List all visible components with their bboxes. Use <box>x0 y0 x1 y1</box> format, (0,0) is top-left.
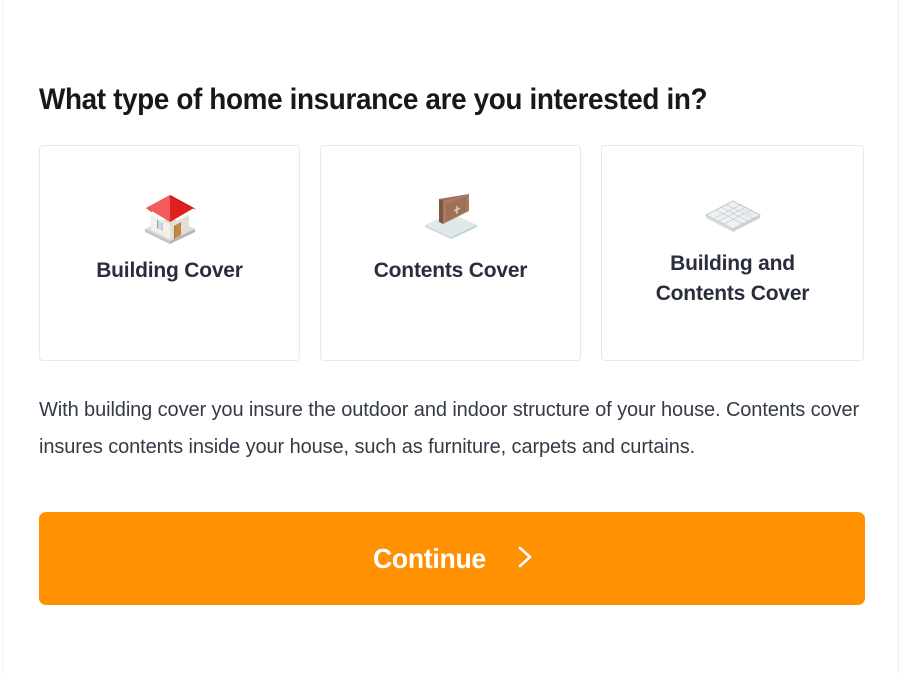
chevron-right-icon <box>516 543 534 574</box>
cover-options-group: Building Cover <box>39 145 869 361</box>
option-card-building-and-contents-cover[interactable]: Building and Contents Cover <box>601 145 864 361</box>
content-container: What type of home insurance are you inte… <box>39 0 869 605</box>
continue-button-label: Continue <box>373 543 486 575</box>
cover-description-text: With building cover you insure the outdo… <box>39 392 867 466</box>
continue-button[interactable]: Continue <box>39 512 865 605</box>
option-card-contents-cover[interactable]: Contents Cover <box>320 145 581 361</box>
option-card-label-line-1: Building and <box>656 249 810 279</box>
option-card-label: Contents Cover <box>374 256 528 286</box>
insurance-question-page: What type of home insurance are you inte… <box>0 0 904 674</box>
option-card-label-line-2: Contents Cover <box>656 279 810 309</box>
page-right-edge <box>898 0 899 674</box>
option-card-label: Building Cover <box>96 256 243 286</box>
furniture-cabinet-icon <box>405 186 497 248</box>
page-title: What type of home insurance are you inte… <box>39 0 811 118</box>
house-icon <box>124 186 216 248</box>
page-left-edge <box>2 0 3 674</box>
option-card-label: Building and Contents Cover <box>656 249 810 309</box>
tiled-floor-plate-icon <box>687 186 779 248</box>
option-card-building-cover[interactable]: Building Cover <box>39 145 300 361</box>
